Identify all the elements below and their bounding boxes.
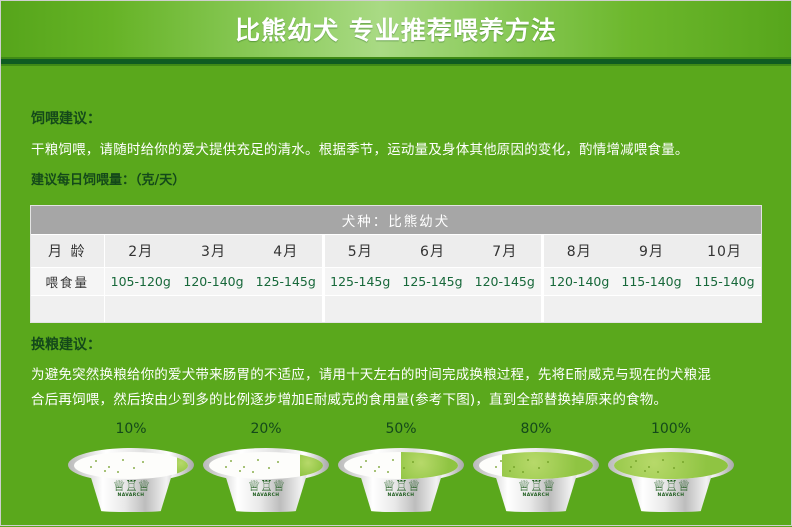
kibble-speck [142, 461, 144, 463]
table-amount-cell: 120-140g [177, 268, 250, 296]
kibble-speck [243, 466, 245, 468]
feeding-table: 犬种：比熊幼犬 月 龄 2月 3月 4月 5月 6月 7月 8月 9月 10月 … [31, 206, 761, 322]
kibble-speck [122, 459, 124, 461]
kibble-speck [387, 471, 389, 473]
feeding-advice-heading: 饲喂建议： [31, 108, 101, 128]
bowl-food-surface [344, 452, 458, 479]
brand-crest-logo: ♕♖♕NAVARCH [648, 480, 694, 498]
kibble-speck [648, 466, 650, 468]
brand-crest-logo: ♕♖♕NAVARCH [108, 480, 154, 498]
kibble-speck [392, 459, 394, 461]
bowl-ratio-10: 10%♕♖♕NAVARCH [56, 421, 206, 514]
bowl-ratio-diagram: 10%♕♖♕NAVARCH20%♕♖♕NAVARCH50%♕♖♕NAVARCH8… [1, 421, 791, 527]
kibble-speck [133, 467, 135, 469]
bowl-food-surface [614, 452, 728, 479]
kibble-speck [635, 460, 637, 462]
bowl-food-surface [209, 452, 323, 479]
table-amount-cell: 125-145g [250, 268, 323, 296]
table-month-cell: 4月 [250, 235, 323, 268]
kibble-speck [630, 466, 632, 468]
bowl-ratio-50: 50%♕♖♕NAVARCH [326, 421, 476, 514]
crest-emblem-icon: ♕♖♕ [378, 480, 424, 493]
food-swap-heading: 换粮建议： [31, 334, 101, 354]
table-month-cell: 7月 [469, 235, 542, 268]
kibble-speck [662, 459, 664, 461]
dog-bowl-icon: ♕♖♕NAVARCH [66, 440, 196, 514]
kibble-speck [268, 467, 270, 469]
table-month-cell: 3月 [177, 235, 250, 268]
kibble-speck [252, 471, 254, 473]
table-amount-cell: 115-140g [615, 268, 688, 296]
table-amount-cell: 125-145g [396, 268, 469, 296]
new-food-portion [177, 452, 188, 479]
kibble-speck [108, 466, 110, 468]
kibble-speck [90, 466, 92, 468]
kibble-speck [527, 459, 529, 461]
kibble-speck [225, 466, 227, 468]
table-month-cell: 8月 [542, 235, 615, 268]
kibble-speck [277, 461, 279, 463]
kibble-speck [104, 470, 106, 472]
bowl-ratio-100: 100%♕♖♕NAVARCH [596, 421, 746, 514]
table-amount-cell: 120-145g [469, 268, 542, 296]
new-food-portion [300, 452, 323, 479]
row-label-month: 月 龄 [31, 235, 104, 268]
new-food-portion [401, 452, 458, 479]
bowl-ratio-80: 80%♕♖♕NAVARCH [461, 421, 611, 514]
bowl-percent-label: 10% [56, 421, 206, 437]
page-root: 比熊幼犬 专业推荐喂养方法 饲喂建议： 干粮饲喂，请随时给你的爱犬提供充足的清水… [0, 0, 792, 526]
table-month-cell: 10月 [688, 235, 761, 268]
dog-bowl-icon: ♕♖♕NAVARCH [336, 440, 466, 514]
table-month-cell: 6月 [396, 235, 469, 268]
crest-emblem-icon: ♕♖♕ [243, 480, 289, 493]
daily-amount-heading: 建议每日饲喂量：（克/天） [31, 169, 185, 188]
brand-crest-logo: ♕♖♕NAVARCH [243, 480, 289, 498]
kibble-speck [117, 471, 119, 473]
kibble-speck [360, 466, 362, 468]
bowl-percent-label: 80% [461, 421, 611, 437]
dog-bowl-icon: ♕♖♕NAVARCH [606, 440, 736, 514]
bowl-percent-label: 100% [596, 421, 746, 437]
table-month-cell: 5月 [323, 235, 396, 268]
kibble-speck [378, 466, 380, 468]
table-breed-header: 犬种：比熊幼犬 [31, 206, 761, 235]
table-month-cell: 2月 [104, 235, 177, 268]
table-amount-row: 喂食量 105-120g 120-140g 125-145g 125-145g … [31, 268, 761, 296]
crest-emblem-icon: ♕♖♕ [108, 480, 154, 493]
page-header: 比熊幼犬 专业推荐喂养方法 [1, 1, 791, 57]
bowl-percent-label: 20% [191, 421, 341, 437]
header-divider-light-2 [1, 64, 791, 66]
bowl-food-surface [479, 452, 593, 479]
dog-bowl-icon: ♕♖♕NAVARCH [201, 440, 331, 514]
kibble-speck [230, 460, 232, 462]
kibble-speck [239, 470, 241, 472]
kibble-speck [365, 460, 367, 462]
food-swap-text-line2: 合后再饲喂，然后按由少到多的比例逐步增加E耐威克的食用量(参考下图)，直到全部替… [31, 388, 667, 408]
bowl-percent-label: 50% [326, 421, 476, 437]
table-amount-cell: 120-140g [542, 268, 615, 296]
kibble-speck [495, 466, 497, 468]
page-title: 比熊幼犬 专业推荐喂养方法 [235, 11, 557, 47]
kibble-speck [95, 460, 97, 462]
kibble-speck [513, 466, 515, 468]
bowl-ratio-20: 20%♕♖♕NAVARCH [191, 421, 341, 514]
food-swap-text-line1: 为避免突然换粮给你的爱犬带来肠胃的不适应，请用十天左右的时间完成换粮过程，先将E… [31, 363, 711, 383]
crest-emblem-icon: ♕♖♕ [513, 480, 559, 493]
table-amount-cell: 105-120g [104, 268, 177, 296]
new-food-portion [502, 452, 593, 479]
row-label-amount: 喂食量 [31, 268, 104, 296]
brand-crest-logo: ♕♖♕NAVARCH [378, 480, 424, 498]
feeding-advice-text: 干粮饲喂，请随时给你的爱犬提供充足的清水。根据季节，运动量及身体其他原因的变化，… [31, 138, 689, 158]
table-breed-header-row: 犬种：比熊幼犬 [31, 206, 761, 235]
table-amount-cell: 115-140g [688, 268, 761, 296]
table-amount-cell: 125-145g [323, 268, 396, 296]
table-blank-row [31, 296, 761, 323]
dog-bowl-icon: ♕♖♕NAVARCH [471, 440, 601, 514]
crest-emblem-icon: ♕♖♕ [648, 480, 694, 493]
bowl-food-surface [74, 452, 188, 479]
brand-crest-logo: ♕♖♕NAVARCH [513, 480, 559, 498]
table-month-cell: 9月 [615, 235, 688, 268]
kibble-speck [257, 459, 259, 461]
kibble-speck [500, 460, 502, 462]
kibble-speck [374, 470, 376, 472]
table-month-row: 月 龄 2月 3月 4月 5月 6月 7月 8月 9月 10月 [31, 235, 761, 268]
